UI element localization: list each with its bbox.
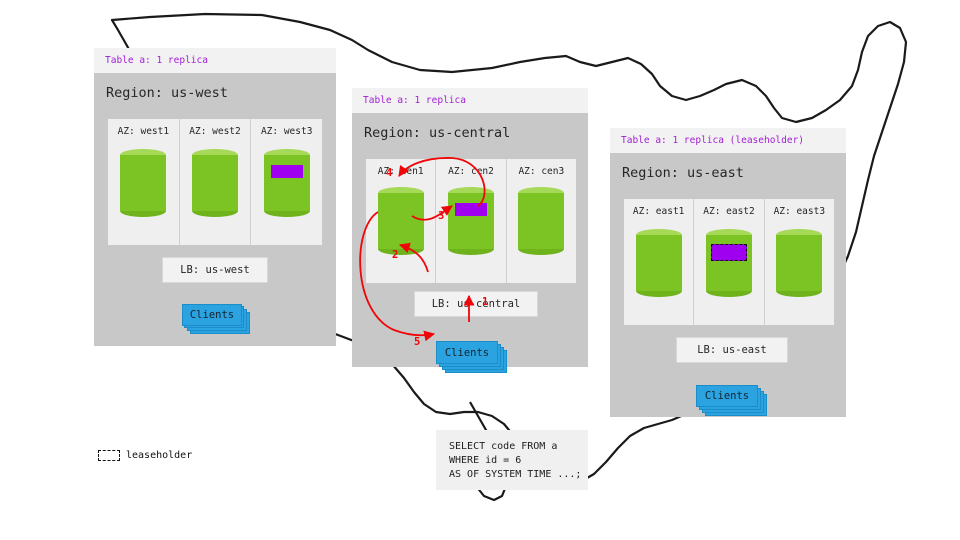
legend: leaseholder <box>98 450 192 461</box>
replica-cylinder-cen3[interactable] <box>518 187 564 255</box>
az-row-us-central: AZ: cen1 AZ: cen2 AZ: cen3 <box>366 159 576 283</box>
region-body-us-east: Region: us-east AZ: east1 AZ: east2 <box>610 153 846 417</box>
leaseholder-marker-west3 <box>271 165 303 178</box>
region-panel-us-central: Table a: 1 replica Region: us-central AZ… <box>352 88 588 367</box>
az-west2[interactable]: AZ: west2 <box>180 119 252 245</box>
region-title-us-east: Region: us-east <box>610 153 846 181</box>
region-title-us-west: Region: us-west <box>94 73 336 101</box>
clients-us-east[interactable]: Clients <box>696 385 768 415</box>
az-east2[interactable]: AZ: east2 <box>694 199 764 325</box>
replica-cylinder-cen2[interactable] <box>448 187 494 255</box>
replica-cylinder-east1[interactable] <box>636 229 682 297</box>
az-cen1[interactable]: AZ: cen1 <box>366 159 436 283</box>
az-east1[interactable]: AZ: east1 <box>624 199 694 325</box>
diagram-canvas: Table a: 1 replica Region: us-west AZ: w… <box>0 0 960 540</box>
lb-us-west[interactable]: LB: us-west <box>162 257 268 283</box>
replica-cylinder-west2[interactable] <box>192 149 238 217</box>
region-body-us-central: Region: us-central AZ: cen1 AZ: cen2 <box>352 113 588 367</box>
lb-us-east[interactable]: LB: us-east <box>676 337 788 363</box>
replica-cylinder-west1[interactable] <box>120 149 166 217</box>
leaseholder-marker-east2 <box>711 244 747 261</box>
az-west1[interactable]: AZ: west1 <box>108 119 180 245</box>
arrow-label-1: 1 <box>482 296 488 308</box>
az-label-west3: AZ: west3 <box>251 119 322 137</box>
az-label-cen3: AZ: cen3 <box>507 159 576 177</box>
region-title-us-central: Region: us-central <box>352 113 588 141</box>
legend-label: leaseholder <box>126 450 192 461</box>
az-cen3[interactable]: AZ: cen3 <box>507 159 576 283</box>
az-label-east1: AZ: east1 <box>624 199 693 217</box>
arrow-label-3: 3 <box>438 210 444 222</box>
arrow-label-4: 4 <box>386 167 392 179</box>
sql-query-box: SELECT code FROM a WHERE id = 6 AS OF SY… <box>436 430 588 490</box>
az-row-us-east: AZ: east1 AZ: east2 AZ: east3 <box>624 199 834 325</box>
clients-label-us-central: Clients <box>436 341 498 364</box>
replica-cylinder-west3[interactable] <box>264 149 310 217</box>
arrow-label-5: 5 <box>414 336 420 348</box>
region-header-us-east: Table a: 1 replica (leaseholder) <box>610 128 846 153</box>
az-label-west1: AZ: west1 <box>108 119 179 137</box>
az-label-east3: AZ: east3 <box>765 199 834 217</box>
arrow-label-2: 2 <box>392 249 398 261</box>
region-header-us-west: Table a: 1 replica <box>94 48 336 73</box>
clients-us-central[interactable]: Clients <box>436 341 508 373</box>
az-cen2[interactable]: AZ: cen2 <box>436 159 506 283</box>
clients-us-west[interactable]: Clients <box>182 304 250 334</box>
replica-cylinder-cen1[interactable] <box>378 187 424 255</box>
replica-cylinder-east2[interactable] <box>706 229 752 297</box>
region-panel-us-east: Table a: 1 replica (leaseholder) Region:… <box>610 128 846 417</box>
az-label-east2: AZ: east2 <box>694 199 763 217</box>
az-row-us-west: AZ: west1 AZ: west2 AZ: west3 <box>108 119 322 245</box>
az-east3[interactable]: AZ: east3 <box>765 199 834 325</box>
az-label-cen2: AZ: cen2 <box>436 159 505 177</box>
clients-label-us-east: Clients <box>696 385 758 407</box>
leaseholder-marker-cen2 <box>455 203 487 216</box>
az-label-cen1: AZ: cen1 <box>366 159 435 177</box>
clients-label-us-west: Clients <box>182 304 242 326</box>
region-header-us-central: Table a: 1 replica <box>352 88 588 113</box>
region-panel-us-west: Table a: 1 replica Region: us-west AZ: w… <box>94 48 336 346</box>
dashed-rect-icon <box>98 450 120 461</box>
region-body-us-west: Region: us-west AZ: west1 AZ: west2 AZ: … <box>94 73 336 346</box>
az-label-west2: AZ: west2 <box>180 119 251 137</box>
replica-cylinder-east3[interactable] <box>776 229 822 297</box>
lb-us-central[interactable]: LB: us-central <box>414 291 538 317</box>
az-west3[interactable]: AZ: west3 <box>251 119 322 245</box>
